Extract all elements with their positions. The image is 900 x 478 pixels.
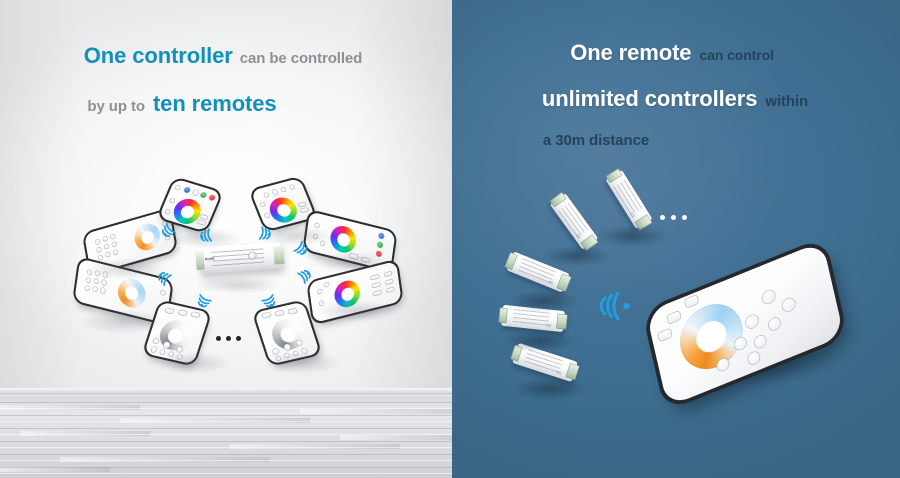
right-panel: One remotecan control unlimited controll…: [452, 0, 900, 478]
left-heading-accent-2: ten remotes: [145, 91, 277, 116]
left-heading-text-1: can be controlled: [233, 50, 363, 67]
promo-graphic: One controllercan be controlled by up to…: [0, 0, 900, 478]
right-heading: One remotecan control unlimited controll…: [452, 40, 900, 150]
left-panel: One controllercan be controlled by up to…: [0, 0, 452, 478]
controller-module-1[interactable]: CE: [606, 170, 653, 229]
ellipsis-dot: [236, 336, 241, 341]
wireless-signal-icon: [598, 292, 631, 320]
wood-floor: [0, 395, 452, 478]
left-heading: One controllercan be controlled by up to…: [0, 43, 452, 117]
ellipsis-dot: [671, 215, 676, 220]
wall-baseboard: [0, 388, 452, 395]
right-heading-strong-2: unlimited controllers: [542, 86, 757, 111]
ellipsis-dot: [226, 336, 231, 341]
ellipsis-left: [216, 336, 241, 341]
right-heading-text-2: within: [757, 93, 808, 110]
right-heading-strong-1: One remote: [570, 40, 691, 65]
right-heading-text-1: can control: [691, 47, 773, 63]
left-heading-text-2: by up to: [87, 98, 145, 115]
ellipsis-dot: [660, 215, 665, 220]
controller-module-2[interactable]: CE: [550, 193, 598, 249]
ellipsis-dot: [216, 336, 221, 341]
ellipsis-right: [660, 215, 687, 220]
right-heading-text-3: a 30m distance: [543, 132, 649, 149]
left-heading-accent-1: One controller: [84, 43, 233, 68]
ellipsis-dot: [682, 215, 687, 220]
